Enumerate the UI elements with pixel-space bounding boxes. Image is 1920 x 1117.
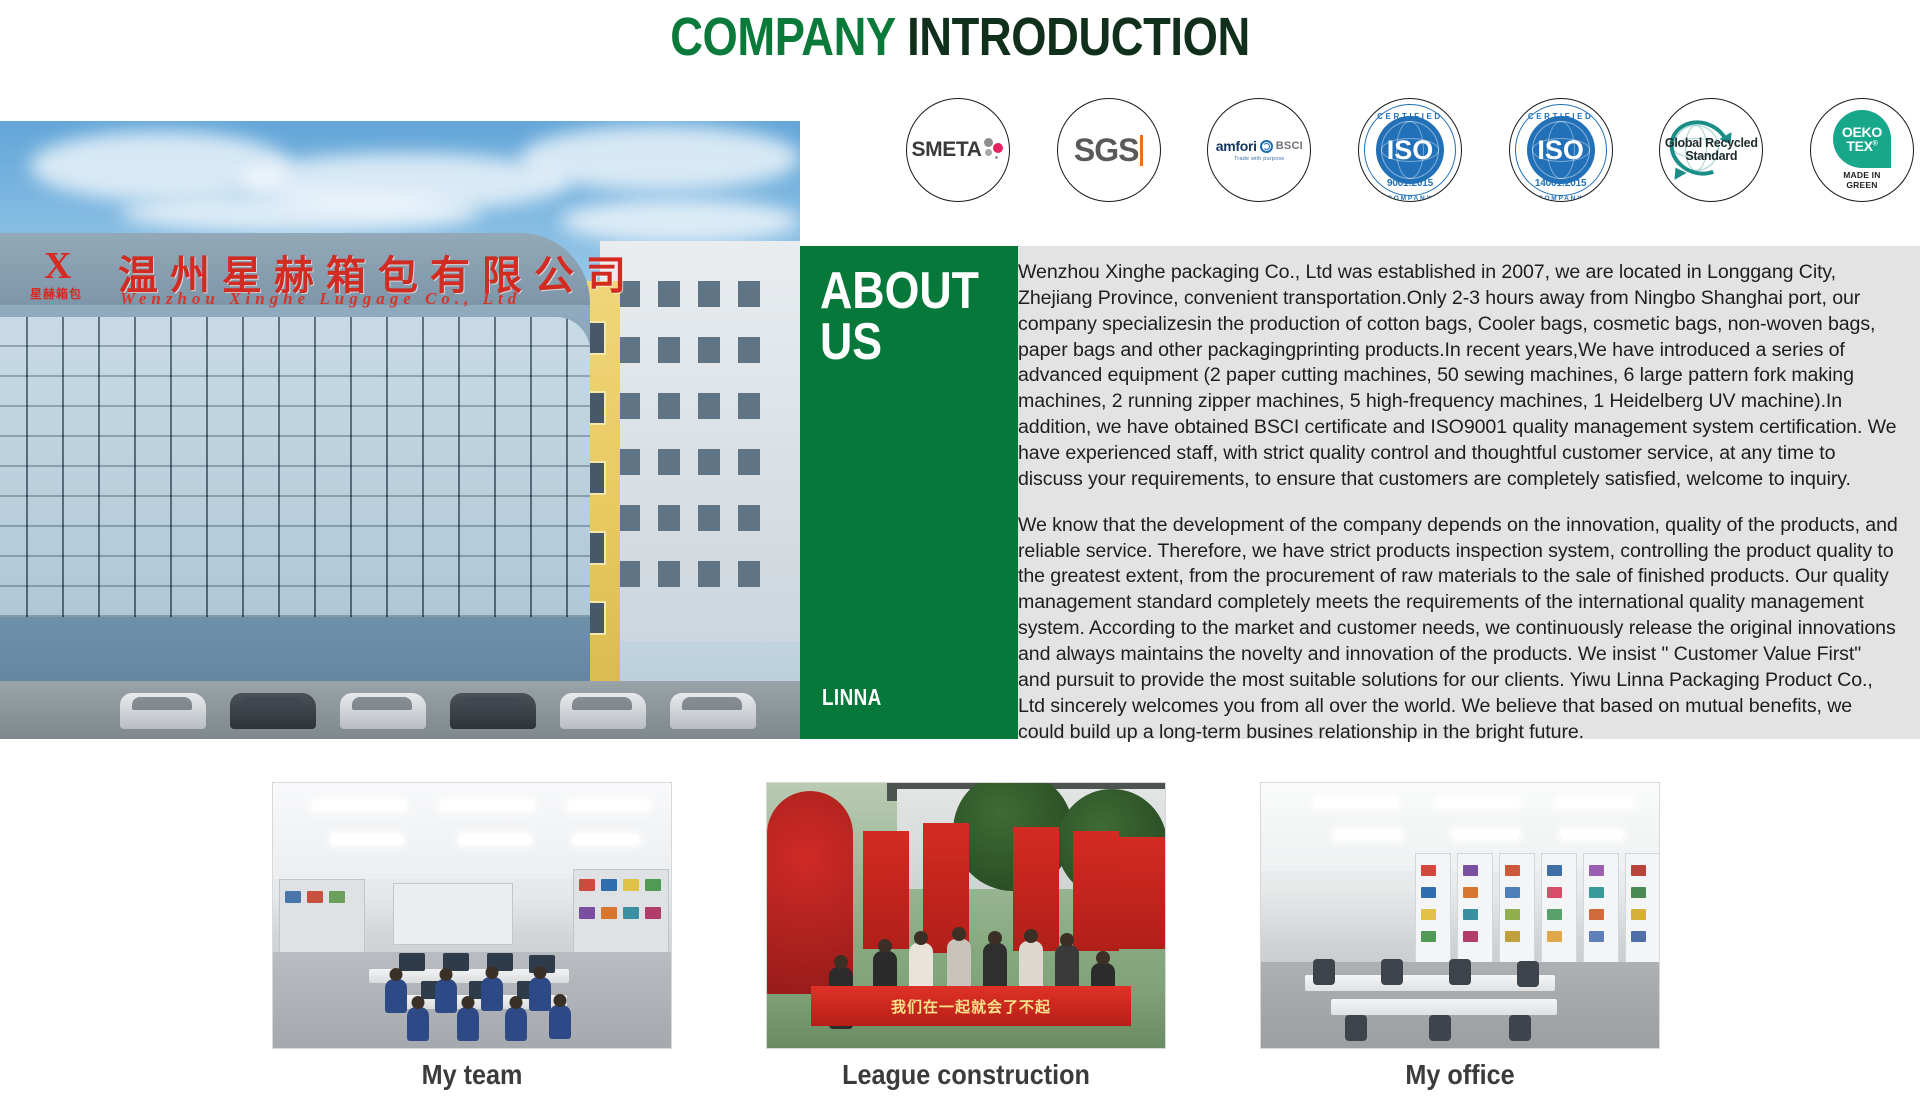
badge-smeta: SMETA <box>906 98 1010 202</box>
title-company-word: COMPANY <box>670 7 907 67</box>
about-paragraph-1: Wenzhou Xinghe packaging Co., Ltd was es… <box>1018 260 1898 493</box>
about-us-heading: ABOUT US <box>820 266 979 368</box>
iso9001-company-label: COMPANY <box>1359 195 1461 202</box>
gallery-caption-my-team: My team <box>292 1059 652 1091</box>
gallery-row: My team <box>0 782 1920 1082</box>
smeta-dots-icon <box>982 138 1004 162</box>
badge-amfori-bsci: amfori BSCI Trade with purpose <box>1207 98 1311 202</box>
oeko-made-line2: GREEN <box>1846 180 1877 190</box>
title-introduction-word: INTRODUCTION <box>907 7 1250 67</box>
badge-iso-9001: CERTIFIED ISO 9001:2015 COMPANY <box>1358 98 1462 202</box>
iso9001-word: ISO <box>1387 135 1434 166</box>
logo-mark: X <box>44 247 71 285</box>
gallery-caption-my-office: My office <box>1280 1059 1640 1091</box>
amfori-tagline: Trade with purpose <box>1234 156 1284 162</box>
sgs-label: SGS <box>1074 132 1139 169</box>
iso9001-number: 9001:2015 <box>1365 178 1455 189</box>
gallery-caption-league-construction: League construction <box>786 1059 1146 1091</box>
badge-global-recycled-standard: Global Recycled Standard <box>1659 98 1763 202</box>
about-heading-line2: US <box>820 313 882 371</box>
sgs-bar-icon <box>1140 135 1143 166</box>
about-us-text-panel: Wenzhou Xinghe packaging Co., Ltd was es… <box>1018 246 1920 739</box>
gallery-item-my-team: My team <box>272 782 672 1091</box>
smeta-label: SMETA <box>912 138 982 162</box>
iso14001-number: 14001:2015 <box>1516 178 1606 189</box>
oeko-blob-icon: OEKO TEX® <box>1833 110 1891 168</box>
logo-sub-label: 星赫箱包 <box>30 285 82 302</box>
iso-seal-icon: CERTIFIED ISO 9001:2015 <box>1364 104 1456 196</box>
page-title: COMPANY INTRODUCTION <box>0 6 1920 68</box>
grs-line1: Global Recycled <box>1665 136 1758 150</box>
about-heading-line1: ABOUT <box>820 262 979 320</box>
iso14001-company-label: COMPANY <box>1510 195 1612 202</box>
amfori-ring-icon <box>1260 140 1273 153</box>
gallery-item-my-office: My office <box>1260 782 1660 1091</box>
badge-iso-14001: CERTIFIED ISO 14001:2015 COMPANY <box>1509 98 1613 202</box>
company-introduction-page: COMPANY INTRODUCTION SMETA SGS amfori BS… <box>0 0 1920 1117</box>
amfori-label: amfori <box>1216 138 1257 154</box>
building-sign-english: Wenzhou Xinghe Luggage Co., Ltd <box>120 289 521 309</box>
brand-name-linna: LINNA <box>822 684 882 711</box>
oeko-line2: TEX <box>1846 138 1872 154</box>
amfori-bsci-label: BSCI <box>1276 140 1303 152</box>
certification-badge-strip: SMETA SGS amfori BSCI Trade with purpose <box>900 98 1920 202</box>
league-banner-text: 我们在一起就会了不起 <box>891 996 1051 1017</box>
company-logo-icon: X 星赫箱包 <box>30 247 110 303</box>
iso-seal-icon: CERTIFIED ISO 14001:2015 <box>1515 104 1607 196</box>
recycle-globe-icon: Global Recycled Standard <box>1663 117 1759 183</box>
badge-sgs: SGS <box>1057 98 1161 202</box>
about-paragraph-2: We know that the development of the comp… <box>1018 513 1898 746</box>
gallery-item-league-construction: 我们在一起就会了不起 League construction <box>766 782 1166 1091</box>
grs-line2: Standard <box>1685 149 1737 163</box>
about-us-panel: ABOUT US LINNA <box>800 246 1018 739</box>
oeko-line1: OEKO <box>1842 125 1882 139</box>
iso14001-word: ISO <box>1537 135 1584 166</box>
office-photo <box>272 782 672 1049</box>
factory-building-photo: X 星赫箱包 温州星赫箱包有限公司 Wenzhou Xinghe Luggage… <box>0 121 800 739</box>
badge-oeko-tex: OEKO TEX® MADE IN GREEN <box>1810 98 1914 202</box>
league-photo: 我们在一起就会了不起 <box>766 782 1166 1049</box>
showroom-photo <box>1260 782 1660 1049</box>
